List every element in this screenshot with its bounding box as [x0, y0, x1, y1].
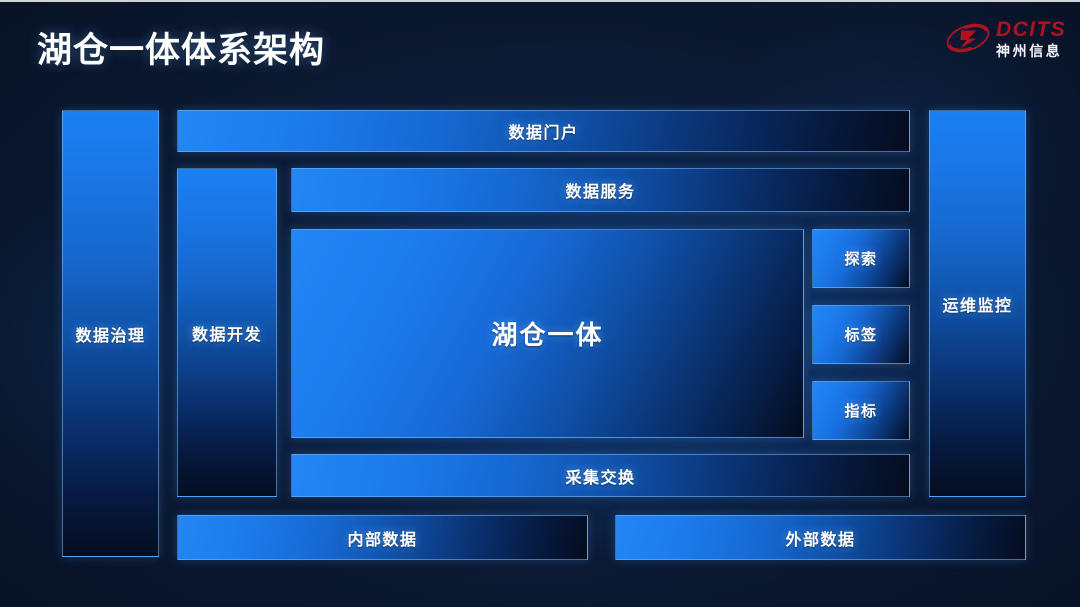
logo-name: DCITS — [996, 19, 1066, 40]
block-internal-data[interactable]: 内部数据 — [177, 515, 588, 560]
block-explore[interactable]: 探索 — [812, 229, 910, 288]
block-metrics[interactable]: 指标 — [812, 381, 910, 440]
block-collect-exchange[interactable]: 采集交换 — [291, 454, 910, 497]
block-data-service-label: 数据服务 — [565, 178, 635, 202]
block-metrics-label: 指标 — [844, 400, 877, 421]
block-lakehouse-core-label: 湖仓一体 — [491, 315, 603, 352]
block-ops-monitoring-label: 运维监控 — [942, 292, 1012, 316]
page-title: 湖仓一体体系架构 — [37, 22, 325, 73]
brand-logo: DCITS 神州信息 — [945, 18, 1066, 58]
block-lakehouse-core[interactable]: 湖仓一体 — [291, 229, 804, 438]
block-data-governance-label: 数据治理 — [75, 322, 145, 346]
top-edge-strip — [0, 0, 1080, 2]
logo-subtitle: 神州信息 — [996, 44, 1066, 58]
block-ops-monitoring[interactable]: 运维监控 — [929, 110, 1026, 497]
block-explore-label: 探索 — [844, 248, 877, 269]
block-internal-data-label: 内部数据 — [347, 526, 417, 550]
slide-canvas: 湖仓一体体系架构 DCITS 神州信息 数据治理 数据门户 数据开发 数据服务 … — [0, 0, 1080, 607]
block-tags[interactable]: 标签 — [812, 305, 910, 364]
block-external-data-label: 外部数据 — [785, 526, 855, 550]
block-data-portal-label: 数据门户 — [508, 119, 578, 143]
block-external-data[interactable]: 外部数据 — [615, 515, 1026, 560]
block-data-governance[interactable]: 数据治理 — [62, 110, 159, 557]
block-tags-label: 标签 — [844, 324, 877, 345]
block-collect-exchange-label: 采集交换 — [565, 464, 635, 488]
block-data-development-label: 数据开发 — [192, 321, 262, 345]
dcits-swirl-logo-icon — [945, 18, 991, 58]
block-data-portal[interactable]: 数据门户 — [177, 110, 910, 152]
block-data-service[interactable]: 数据服务 — [291, 168, 910, 212]
block-data-development[interactable]: 数据开发 — [177, 168, 277, 497]
